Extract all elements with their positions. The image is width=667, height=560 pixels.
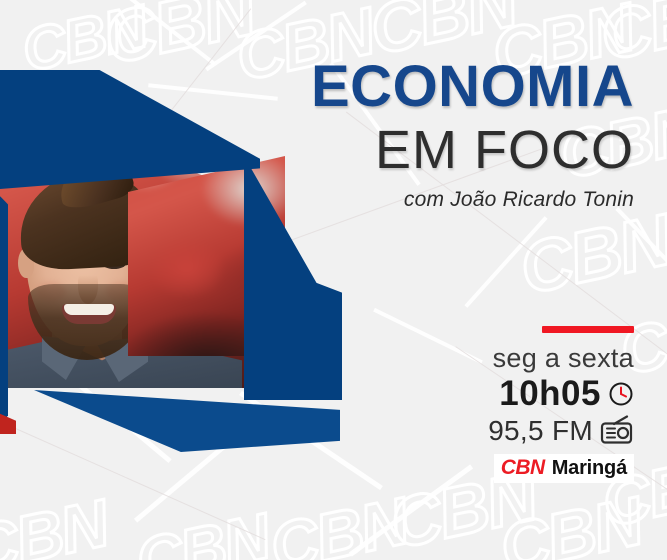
station-logo-row: CBN Maringá	[374, 454, 634, 483]
schedule-time-row: 10h05	[374, 376, 634, 413]
subject-mouth	[62, 304, 116, 324]
red-accent-sliver	[0, 412, 16, 434]
schedule-time: 10h05	[499, 376, 601, 413]
subject-teeth	[64, 304, 114, 315]
blue-plate-left-edge	[0, 190, 8, 430]
schedule-frequency: 95,5 FM	[488, 416, 593, 445]
red-divider-rule	[542, 326, 634, 333]
cbn-maringa-logo: CBN Maringá	[494, 454, 634, 483]
page-title-line1: ECONOMIA	[234, 58, 634, 116]
schedule-days: seg a sexta	[374, 344, 634, 374]
program-title-block: ECONOMIA EM FOCO com João Ricardo Tonin	[234, 58, 634, 212]
clock-icon	[608, 381, 634, 407]
page-title-line2: EM FOCO	[234, 122, 634, 179]
poster-canvas: CBNCBNCBNCBNCBNCBNCBNCBNCBNCBNCBNCBNCBNC…	[0, 0, 667, 560]
host-credit: com João Ricardo Tonin	[234, 188, 634, 212]
cbn-watermark: CBN	[0, 485, 113, 560]
radio-icon	[600, 415, 634, 445]
cbn-logo-city: Maringá	[552, 457, 627, 480]
cbn-logo-text: CBN	[501, 456, 545, 480]
schedule-frequency-row: 95,5 FM	[374, 415, 634, 445]
schedule-block: seg a sexta 10h05 95,5 FM	[374, 326, 634, 483]
